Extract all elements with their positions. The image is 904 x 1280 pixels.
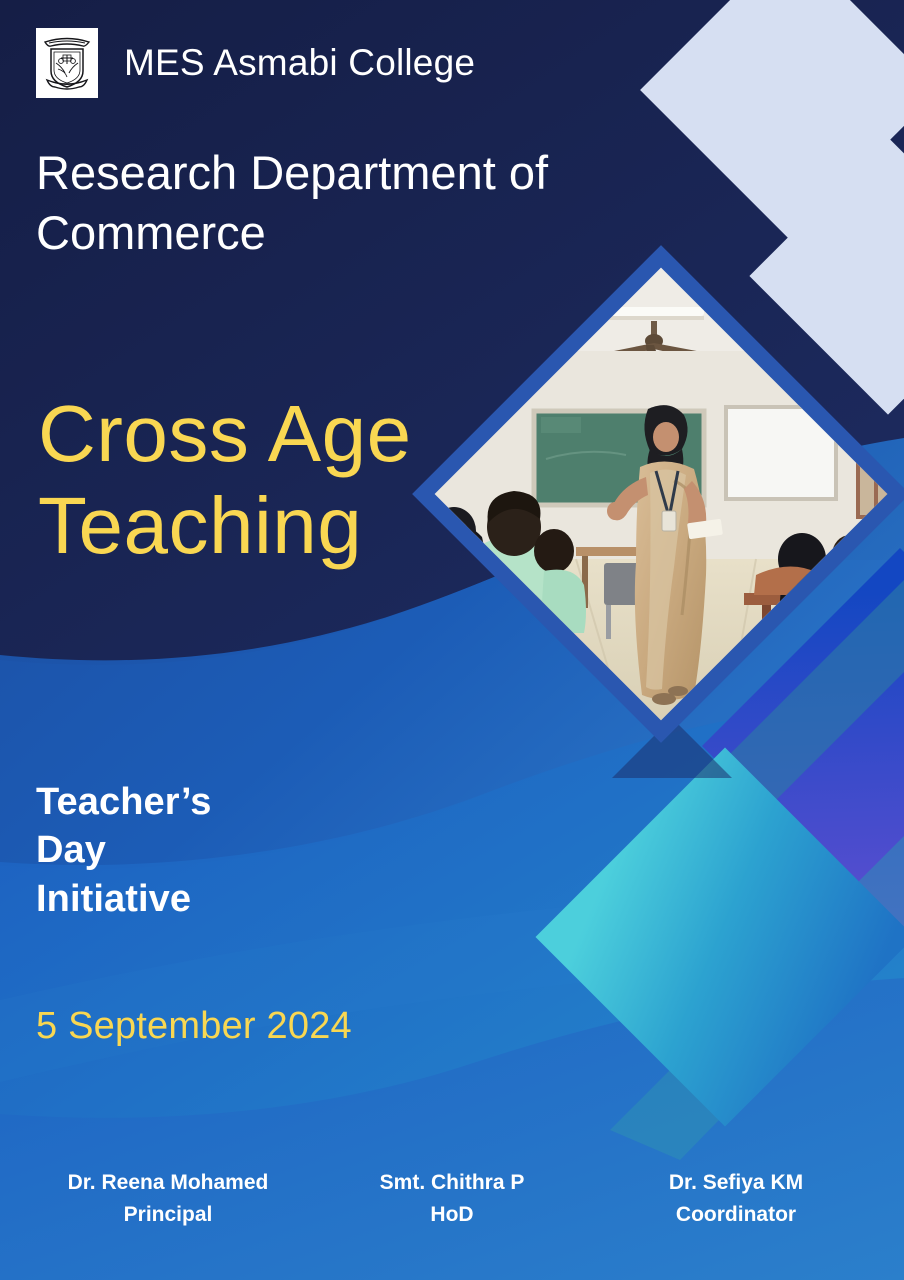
credit-role: HoD — [310, 1199, 594, 1232]
college-name: MES Asmabi College — [124, 42, 475, 84]
event-title-line-2: Teaching — [38, 480, 508, 572]
event-subtitle: Teacher’s Day Initiative — [36, 778, 212, 923]
event-date: 5 September 2024 — [36, 1005, 352, 1048]
credits-row: Dr. Reena Mohamed Principal Smt. Chithra… — [0, 1167, 904, 1232]
department-name: Research Department of Commerce — [36, 143, 716, 263]
credit-name: Dr. Sefiya KM — [594, 1167, 878, 1200]
poster-canvas: MES Asmabi College Research Department o… — [0, 0, 904, 1280]
event-subtitle-line-1: Teacher’s — [36, 778, 212, 826]
event-title: Cross Age Teaching — [38, 388, 508, 572]
credit-hod: Smt. Chithra P HoD — [310, 1167, 594, 1232]
credit-coordinator: Dr. Sefiya KM Coordinator — [594, 1167, 878, 1232]
credit-name: Smt. Chithra P — [310, 1167, 594, 1200]
event-subtitle-line-2: Day — [36, 826, 212, 874]
credit-role: Coordinator — [594, 1199, 878, 1232]
credit-principal: Dr. Reena Mohamed Principal — [26, 1167, 310, 1232]
event-subtitle-line-3: Initiative — [36, 875, 212, 923]
poster-header: MES Asmabi College — [36, 28, 475, 98]
college-crest-icon — [36, 28, 98, 98]
credit-name: Dr. Reena Mohamed — [26, 1167, 310, 1200]
credit-role: Principal — [26, 1199, 310, 1232]
event-title-line-1: Cross Age — [38, 388, 508, 480]
